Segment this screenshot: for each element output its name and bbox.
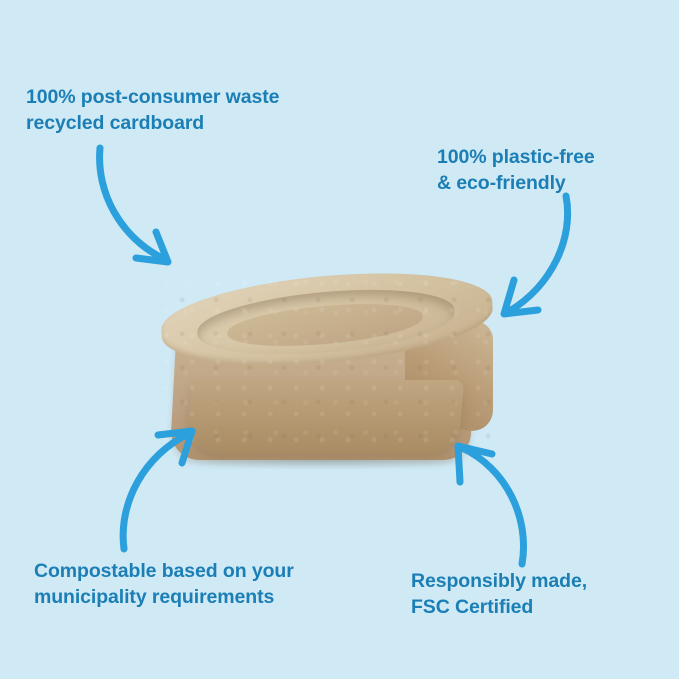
callout-text-recycled-cardboard: 100% post-consumer waste recycled cardbo… bbox=[26, 84, 356, 137]
curved-arrow-up-right-icon bbox=[110, 425, 230, 555]
curved-arrow-up-left-icon bbox=[430, 440, 540, 570]
curved-arrow-down-right-icon bbox=[90, 140, 210, 280]
product-infographic: 100% post-consumer waste recycled cardbo… bbox=[0, 0, 679, 679]
curved-arrow-down-left-icon bbox=[470, 190, 580, 330]
callout-text-plastic-free: 100% plastic-free & eco-friendly bbox=[437, 144, 667, 197]
callout-text-compostable: Compostable based on your municipality r… bbox=[34, 558, 364, 611]
callout-text-fsc-certified: Responsibly made, FSC Certified bbox=[411, 568, 661, 621]
